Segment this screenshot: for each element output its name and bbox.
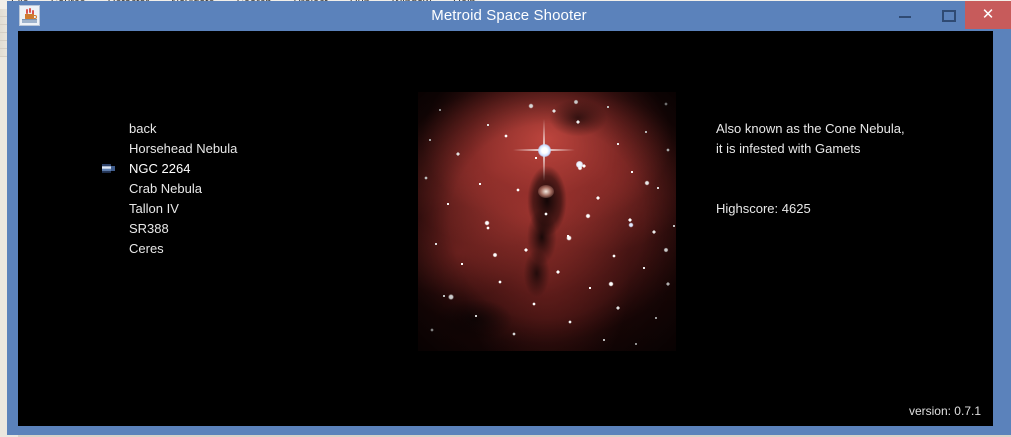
application-window: Metroid Space Shooter ✕ back Horsehead N…	[7, 1, 1011, 435]
window-title-bar[interactable]: Metroid Space Shooter ✕	[7, 1, 1011, 30]
maximize-icon	[942, 10, 956, 22]
minimize-button[interactable]	[883, 1, 927, 28]
menu-item-crab-nebula[interactable]: Crab Nebula	[117, 179, 377, 199]
ship-body-shape	[102, 164, 111, 173]
highscore-label: Highscore: 4625	[716, 201, 811, 216]
menu-item-label: Tallon IV	[129, 199, 179, 219]
menu-item-ceres[interactable]: Ceres	[117, 239, 377, 259]
version-label: version: 0.7.1	[909, 404, 981, 418]
menu-item-horsehead-nebula[interactable]: Horsehead Nebula	[117, 139, 377, 159]
menu-item-back[interactable]: back	[117, 119, 377, 139]
cone-nebula-ngc-2264-image	[418, 92, 676, 351]
menu-item-label: Horsehead Nebula	[129, 139, 237, 159]
description-line: Also known as the Cone Nebula,	[716, 119, 986, 139]
menu-item-label: Ceres	[129, 239, 164, 259]
nebula-vignette-layer	[418, 92, 676, 351]
ship-cursor-icon	[102, 164, 115, 173]
close-icon: ✕	[965, 1, 1011, 29]
menu-item-sr388[interactable]: SR388	[117, 219, 377, 239]
planet-description-panel: Also known as the Cone Nebula, it is inf…	[716, 119, 986, 159]
planet-selection-menu: back Horsehead Nebula NGC 2264 Crab Nebu…	[117, 119, 377, 259]
menu-item-label: Crab Nebula	[129, 179, 202, 199]
minimize-icon	[899, 16, 911, 18]
game-canvas[interactable]: back Horsehead Nebula NGC 2264 Crab Nebu…	[18, 31, 993, 426]
description-line: it is infested with Gamets	[716, 139, 986, 159]
menu-item-tallon-iv[interactable]: Tallon IV	[117, 199, 377, 219]
menu-item-label: back	[129, 119, 156, 139]
ship-nose-shape	[111, 166, 115, 171]
window-title: Metroid Space Shooter	[7, 1, 1011, 30]
close-button[interactable]: ✕	[965, 1, 1011, 29]
menu-item-ngc-2264[interactable]: NGC 2264	[117, 159, 377, 179]
menu-item-label: SR388	[129, 219, 169, 239]
menu-item-label: NGC 2264	[129, 159, 190, 179]
